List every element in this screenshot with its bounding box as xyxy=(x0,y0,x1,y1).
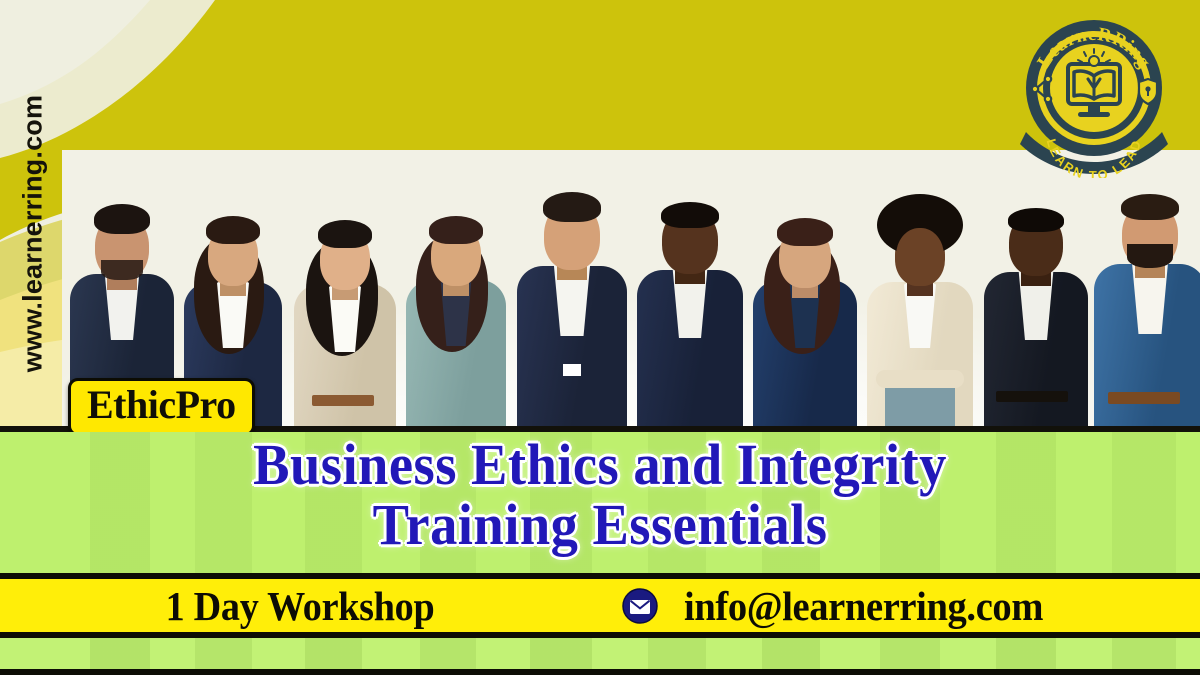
ethicpro-label: EthicPro xyxy=(87,383,236,427)
title-line-1: Business Ethics and Integrity xyxy=(253,432,947,497)
person-4 xyxy=(402,192,510,432)
person-10 xyxy=(1090,170,1200,432)
event-title: Business Ethics and Integrity Training E… xyxy=(36,436,1164,554)
contact-email[interactable]: info@learnerring.com xyxy=(684,585,1043,627)
website-vertical-text: www.learnerring.com xyxy=(18,69,49,399)
yellowbar-bottom-rule xyxy=(0,632,1200,638)
title-line-2: Training Essentials xyxy=(36,496,1164,554)
title-band: Business Ethics and Integrity Training E… xyxy=(0,432,1200,573)
learnerring-logo: LearneRRing LEARN TO LEAD xyxy=(1018,16,1170,178)
person-7 xyxy=(750,194,860,432)
person-3 xyxy=(290,196,400,432)
contact-group: info@learnerring.com xyxy=(600,585,1200,627)
person-5 xyxy=(514,170,630,432)
footer-strip xyxy=(0,638,1200,671)
event-banner: www.learnerring.com xyxy=(0,0,1200,675)
person-8 xyxy=(862,192,978,432)
envelope-icon xyxy=(622,588,658,624)
yellowbar-top-rule xyxy=(0,573,1200,579)
info-bar: 1 Day Workshop info@learnerring.com xyxy=(0,579,1200,632)
workshop-duration: 1 Day Workshop xyxy=(21,585,579,627)
person-9 xyxy=(980,180,1092,432)
footer-bottom-rule xyxy=(0,669,1200,675)
person-6 xyxy=(634,176,746,432)
hero-section: www.learnerring.com xyxy=(0,0,1200,432)
footer-ghost-overlay xyxy=(0,638,1200,671)
ethicpro-badge: EthicPro xyxy=(68,378,255,432)
